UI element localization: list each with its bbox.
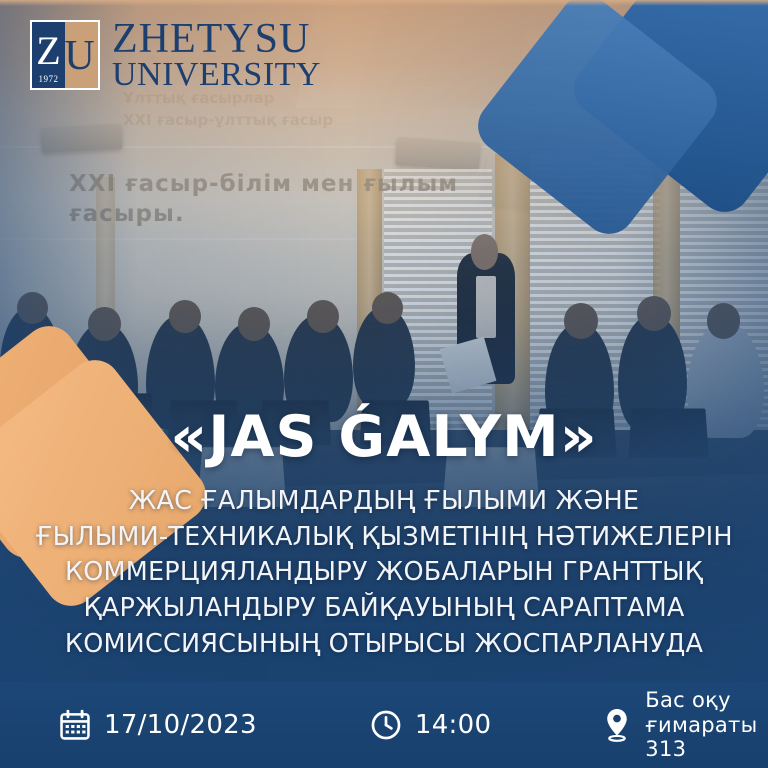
event-date-item: 17/10/2023 — [58, 708, 257, 742]
logo-mark: Z 1972 U — [30, 20, 100, 90]
event-date-value: 17/10/2023 — [104, 710, 257, 740]
event-description: ЖАС ҒАЛЫМДАРДЫҢ ҒЫЛЫМИ ЖӘНЕ ҒЫЛЫМИ-ТЕХНИ… — [24, 484, 744, 662]
description-line: ҒЫЛЫМИ-ТЕХНИКАЛЫҚ ҚЫЗМЕТІНІҢ НӘТИЖЕЛЕРІН — [24, 520, 744, 556]
description-line: КОММЕРЦИЯЛАНДЫРУ ЖОБАЛАРЫН ГРАНТТЫҚ — [24, 555, 744, 591]
event-location-item: Бас оқу ғимараты 313 — [601, 688, 768, 762]
calendar-icon — [58, 708, 92, 742]
description-line: ЖАС ҒАЛЫМДАРДЫҢ ҒЫЛЫМИ ЖӘНЕ — [24, 484, 744, 520]
event-location-value: Бас оқу ғимараты 313 — [645, 688, 768, 762]
logo-mark-left-half: Z 1972 — [32, 22, 65, 88]
event-time-item: 14:00 — [369, 708, 491, 742]
event-location-line1: Бас оқу — [645, 688, 731, 712]
logo-founding-year: 1972 — [39, 74, 59, 84]
top-edge-highlight — [0, 0, 768, 6]
logo-letter-u: U — [64, 35, 94, 77]
logo-word-university: UNIVERSITY — [112, 59, 321, 90]
logo-wordmark: ZHETYSU UNIVERSITY — [112, 20, 321, 90]
zhetysu-university-logo[interactable]: Z 1972 U ZHETYSU UNIVERSITY — [30, 20, 321, 90]
logo-word-zhetysu: ZHETYSU — [112, 20, 321, 59]
description-line: ҚАРЖЫЛАНДЫРУ БАЙҚАУЫНЫҢ САРАПТАМА — [24, 591, 744, 627]
logo-mark-right-half: U — [65, 22, 98, 88]
event-poster: Ұлттық ғасырларXXI ғасыр-ұлттық ғасыр XX… — [0, 0, 768, 768]
logo-letter-z: Z — [36, 31, 60, 71]
location-pin-icon — [601, 707, 633, 743]
event-title: «JAS ǴALYM» — [24, 408, 744, 468]
description-line: КОМИССИЯСЫНЫҢ ОТЫРЫСЫ ЖОСПАРЛАНУДА — [24, 627, 744, 663]
event-time-value: 14:00 — [415, 710, 491, 740]
event-location-line2: ғимараты 313 — [645, 713, 757, 762]
clock-icon — [369, 708, 403, 742]
poster-content: «JAS ǴALYM» ЖАС ҒАЛЫМДАРДЫҢ ҒЫЛЫМИ ЖӘНЕ … — [0, 408, 768, 662]
event-info-bar: 17/10/2023 14:00 Бас оқу ғимараты 313 — [0, 682, 768, 768]
